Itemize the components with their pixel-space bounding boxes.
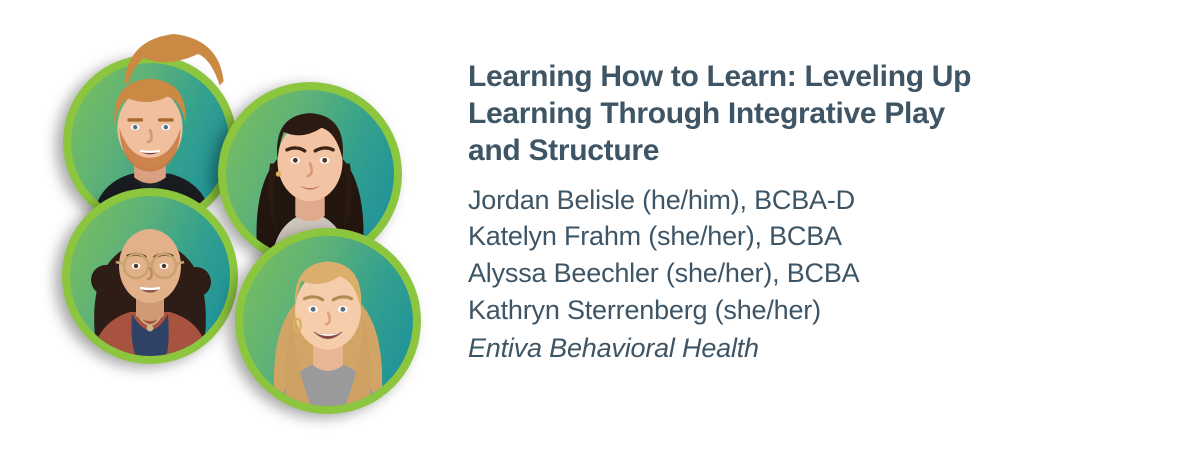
page-title-line-3: and Structure [468, 132, 1168, 169]
portrait-illustration [243, 236, 413, 406]
portrait-illustration [70, 196, 230, 356]
list-item: Jordan Belisle (he/him), BCBA-D [468, 182, 1168, 219]
list-item: Alyssa Beechler (she/her), BCBA [468, 255, 1168, 292]
headshot-circle-bottom-left [62, 188, 238, 364]
headshot-photo-kathryn-sterrenberg [243, 236, 413, 406]
presentation-text-column: Learning How to Learn: Leveling Up Learn… [468, 58, 1168, 367]
presenter-list: Jordan Belisle (he/him), BCBA-D Katelyn … [468, 182, 1168, 329]
presenter-photo-collage [0, 0, 450, 450]
page-title-line-2: Learning Through Integrative Play [468, 95, 1168, 132]
list-item: Kathryn Sterrenberg (she/her) [468, 292, 1168, 329]
presentation-title-slide: Learning How to Learn: Leveling Up Learn… [0, 0, 1200, 450]
headshot-circle-bottom-right [235, 228, 421, 414]
list-item: Katelyn Frahm (she/her), BCBA [468, 218, 1168, 255]
page-title: Learning How to Learn: Leveling Up Learn… [468, 58, 1168, 170]
headshot-photo-alyssa-beechler [70, 196, 230, 356]
affiliation-label: Entiva Behavioral Health [468, 330, 1168, 367]
page-title-line-1: Learning How to Learn: Leveling Up [468, 58, 1168, 95]
